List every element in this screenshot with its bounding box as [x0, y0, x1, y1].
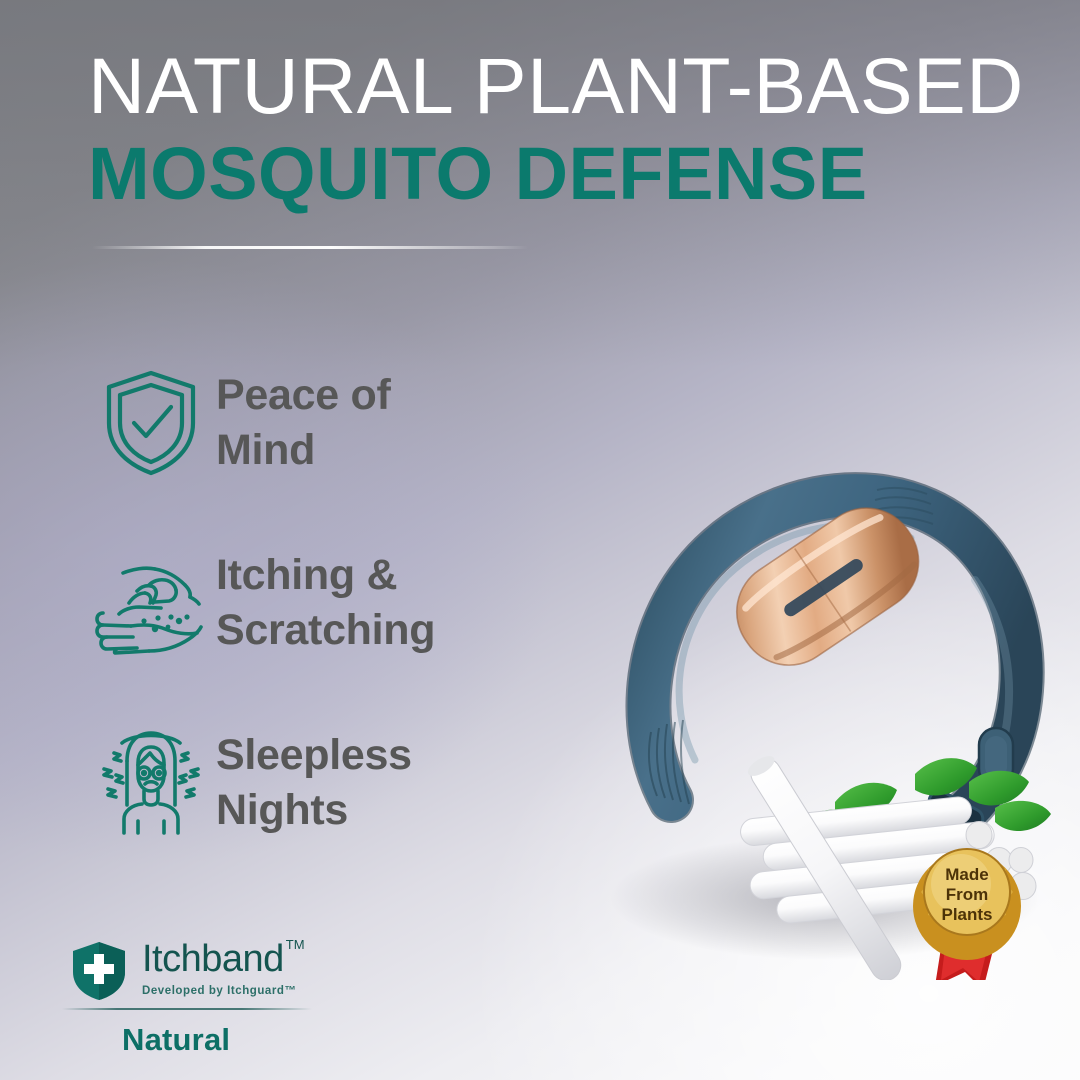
shield-check-icon [86, 362, 216, 484]
headline-line-2: MOSQUITO DEFENSE [88, 138, 1018, 211]
feature-label-line-2: Nights [216, 786, 348, 834]
feature-item-sleepless-nights: Sleepless Nights [86, 722, 556, 844]
sleepless-person-icon [86, 722, 216, 844]
shield-cross-icon [70, 940, 130, 1007]
product-image: Made From Plants [575, 330, 1080, 980]
feature-list: Peace of Mind [86, 362, 556, 844]
brand-trademark: TM [286, 938, 305, 951]
feature-item-itching-scratching: Itching & Scratching [86, 542, 556, 664]
feature-label-line-1: Itching & [216, 551, 397, 599]
headline-divider [92, 246, 528, 249]
product-ad-canvas: NATURAL PLANT-BASED MOSQUITO DEFENSE Pea… [0, 0, 1080, 1080]
feature-label-peace-of-mind: Peace of Mind [216, 368, 390, 478]
feature-label-line-2: Scratching [216, 606, 435, 654]
feature-label-itching-scratching: Itching & Scratching [216, 548, 435, 658]
headline-line-1: NATURAL PLANT-BASED [88, 48, 1018, 124]
feature-label-line-1: Peace of [216, 371, 390, 419]
product-variant-label: Natural [122, 1022, 230, 1058]
feature-item-peace-of-mind: Peace of Mind [86, 362, 556, 484]
feature-label-sleepless-nights: Sleepless Nights [216, 728, 412, 838]
headline: NATURAL PLANT-BASED MOSQUITO DEFENSE [88, 48, 1018, 210]
feature-label-line-1: Sleepless [216, 731, 412, 779]
badge-line-2: From [946, 885, 989, 904]
badge-line-3: Plants [941, 905, 992, 924]
brand-tagline: Developed by Itchguard™ [142, 985, 305, 997]
made-from-plants-badge: Made From Plants [913, 849, 1021, 980]
logo-divider [62, 1008, 312, 1010]
brand-logo: Itchband TM Developed by Itchguard™ [70, 938, 370, 1007]
brand-name: Itchband [142, 940, 284, 978]
feature-label-line-2: Mind [216, 426, 315, 474]
badge-line-1: Made [945, 865, 988, 884]
hand-scratching-icon [86, 542, 216, 664]
